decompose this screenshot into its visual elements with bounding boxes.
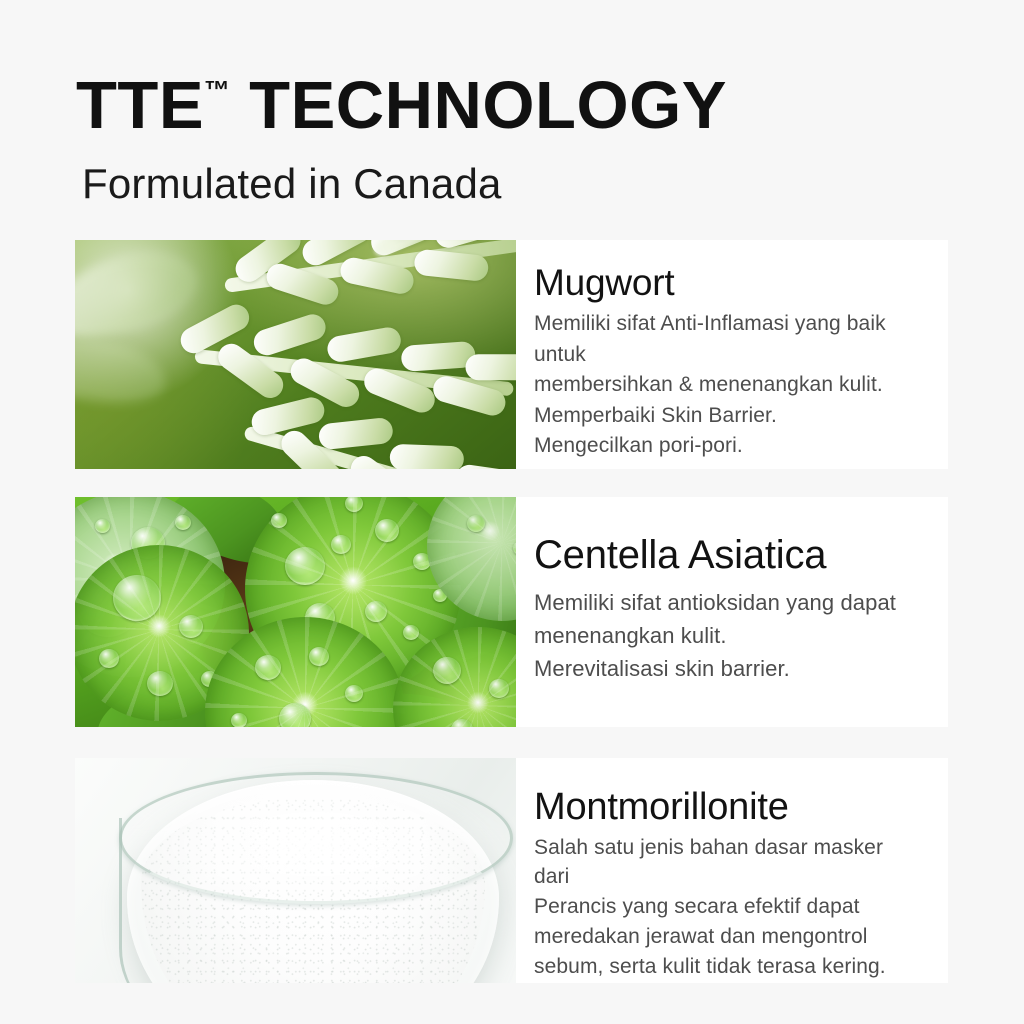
- centella-image: [75, 497, 516, 727]
- mugwort-heading: Mugwort: [534, 262, 922, 303]
- centella-heading: Centella Asiatica: [534, 533, 922, 578]
- ingredient-card-mugwort: Mugwort Memiliki sifat Anti-Inflamasi ya…: [75, 240, 948, 469]
- page-title: TTE™ TECHNOLOGY: [76, 72, 727, 139]
- centella-photo-art: [75, 497, 516, 727]
- mugwort-text-panel: Mugwort Memiliki sifat Anti-Inflamasi ya…: [516, 240, 948, 469]
- montmorillonite-image: [75, 758, 516, 983]
- powder-photo-art: [75, 758, 516, 983]
- trademark-symbol: ™: [204, 75, 230, 105]
- montmorillonite-description: Salah satu jenis bahan dasar masker dari…: [534, 833, 922, 982]
- montmorillonite-heading: Montmorillonite: [534, 786, 922, 829]
- ingredient-card-montmorillonite: Montmorillonite Salah satu jenis bahan d…: [75, 758, 948, 983]
- page-title-rest: TECHNOLOGY: [230, 68, 727, 143]
- montmorillonite-text-panel: Montmorillonite Salah satu jenis bahan d…: [516, 758, 948, 983]
- centella-text-panel: Centella Asiatica Memiliki sifat antioks…: [516, 497, 948, 727]
- page-subtitle: Formulated in Canada: [82, 163, 502, 205]
- mugwort-image: [75, 240, 516, 469]
- page-title-main: TTE: [76, 68, 204, 143]
- ingredient-card-centella-asiatica: Centella Asiatica Memiliki sifat antioks…: [75, 497, 948, 727]
- glass-bowl-wall: [119, 818, 202, 983]
- mugwort-photo-art: [75, 240, 516, 469]
- mugwort-description: Memiliki sifat Anti-Inflamasi yang baik …: [534, 309, 922, 461]
- centella-description: Memiliki sifat antioksidan yang dapat me…: [534, 586, 922, 685]
